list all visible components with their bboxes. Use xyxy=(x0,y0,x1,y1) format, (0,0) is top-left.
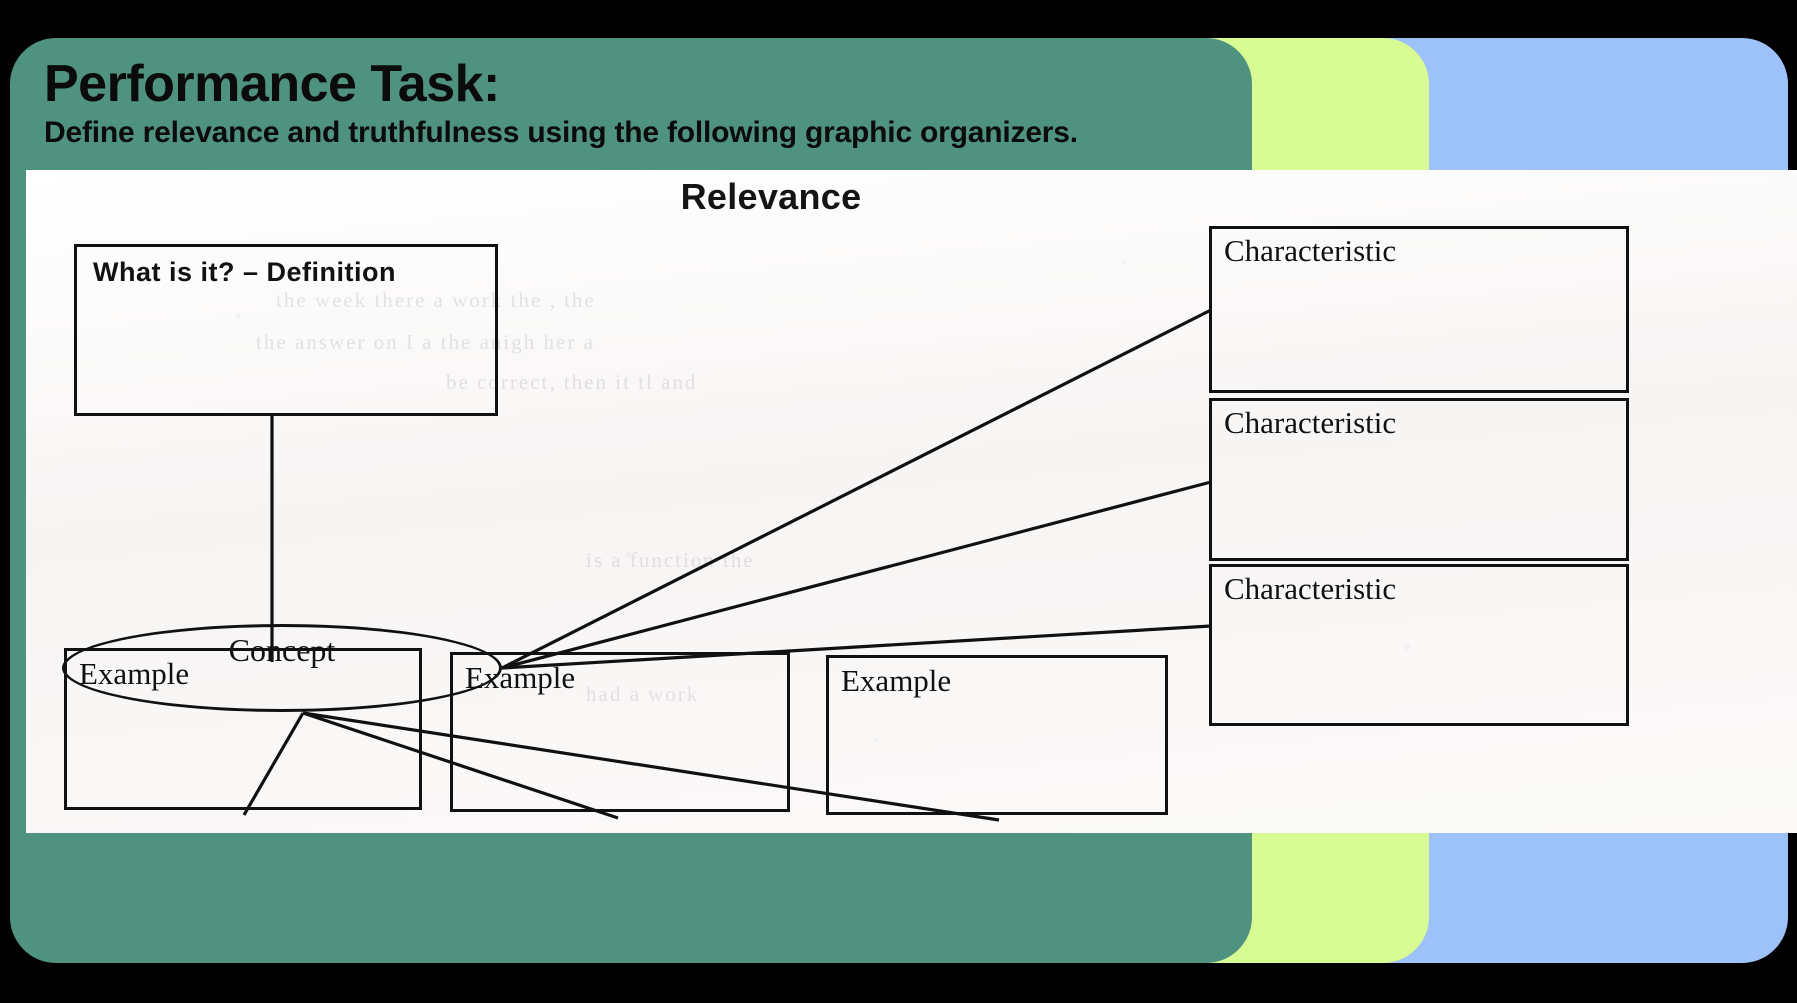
ghost-text-line: is a function the xyxy=(586,548,755,573)
example-box-1[interactable]: Example xyxy=(64,648,422,810)
page-subtitle: Define relevance and truthfulness using … xyxy=(44,117,1374,149)
frame-bar-top xyxy=(0,0,1797,30)
characteristic-box-label: Characteristic xyxy=(1224,571,1396,607)
definition-box[interactable]: What is it? – Definition xyxy=(74,244,498,416)
frame-bar-left xyxy=(0,0,10,1003)
characteristic-box-3[interactable]: Characteristic xyxy=(1209,564,1629,726)
characteristic-box-label: Characteristic xyxy=(1224,233,1396,269)
example-box-2[interactable]: Example xyxy=(450,652,790,812)
frame-bar-bottom xyxy=(0,963,1797,1003)
characteristic-box-label: Characteristic xyxy=(1224,405,1396,441)
worksheet-scan: the week there a work the , the the answ… xyxy=(26,170,1797,833)
example-box-label: Example xyxy=(79,656,189,692)
example-box-3[interactable]: Example xyxy=(826,655,1168,815)
header-block: Performance Task: Define relevance and t… xyxy=(44,58,1374,149)
example-box-label: Example xyxy=(841,663,951,699)
characteristic-box-1[interactable]: Characteristic xyxy=(1209,226,1629,393)
characteristic-box-2[interactable]: Characteristic xyxy=(1209,398,1629,561)
organizer-title: Relevance xyxy=(26,176,1516,218)
example-box-label: Example xyxy=(465,660,575,696)
slide-canvas: Performance Task: Define relevance and t… xyxy=(0,0,1797,1003)
page-title: Performance Task: xyxy=(44,58,1374,111)
definition-box-label: What is it? – Definition xyxy=(93,257,396,288)
